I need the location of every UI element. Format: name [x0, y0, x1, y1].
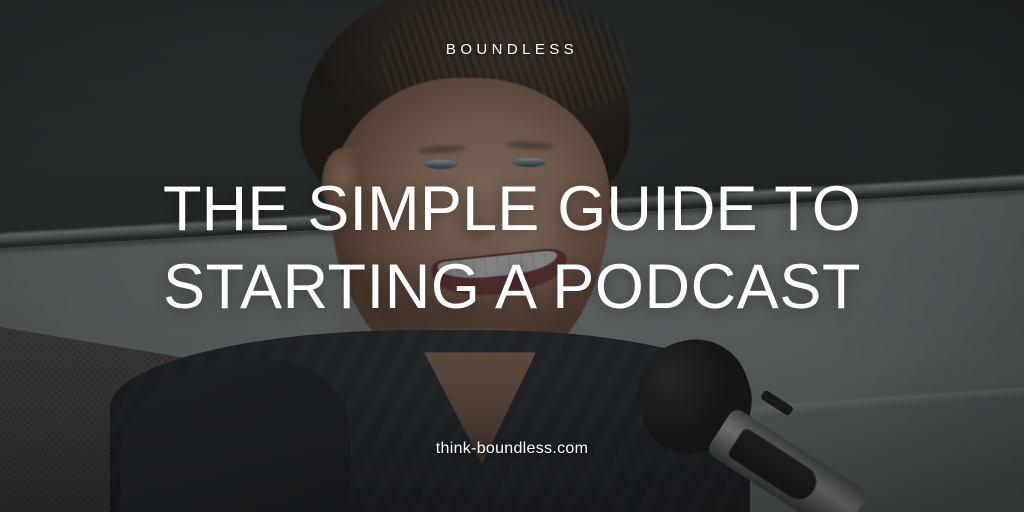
text-content-layer: BOUNDLESS THE SIMPLE GUIDE TO STARTING A… [0, 0, 1024, 512]
site-url-label: think-boundless.com [0, 440, 1024, 458]
brand-wordmark: BOUNDLESS [0, 42, 1024, 57]
podcast-header-graphic: BOUNDLESS THE SIMPLE GUIDE TO STARTING A… [0, 0, 1024, 512]
page-title-line-1: THE SIMPLE GUIDE TO [0, 170, 1024, 248]
page-title: THE SIMPLE GUIDE TO STARTING A PODCAST [0, 170, 1024, 326]
page-title-line-2: STARTING A PODCAST [0, 248, 1024, 326]
